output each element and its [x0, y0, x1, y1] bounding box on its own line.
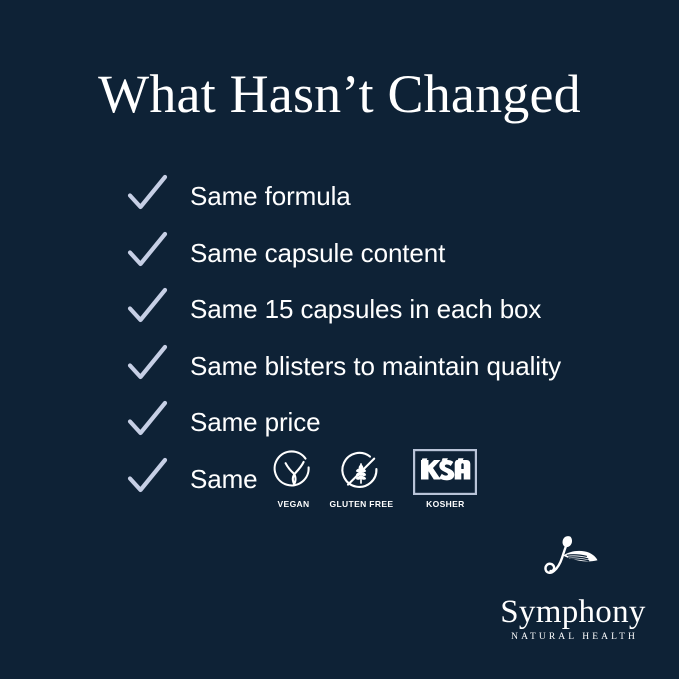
check-icon [126, 345, 168, 387]
promo-poster: What Hasn’t Changed Same formula Same ca… [0, 0, 679, 679]
list-item-label: Same blisters to maintain quality [190, 351, 561, 381]
badge-caption: KOSHER [426, 499, 464, 509]
vegan-icon [272, 449, 316, 495]
gluten-free-icon [339, 449, 383, 495]
check-icon [126, 232, 168, 274]
check-icon [126, 175, 168, 217]
list-item: Same blisters to maintain quality [126, 338, 646, 395]
list-item: Same price [126, 394, 646, 451]
brand-name: Symphony [500, 594, 645, 630]
kosher-ksa-icon [413, 449, 477, 495]
list-item-label: Same [190, 464, 258, 494]
badge-gluten-free: GLUTEN FREE [330, 449, 394, 509]
badge-vegan: VEGAN [272, 449, 316, 509]
page-title: What Hasn’t Changed [0, 62, 679, 126]
list-item-label: Same 15 capsules in each box [190, 294, 541, 324]
list-item: Same 15 capsules in each box [126, 281, 646, 338]
badge-caption: GLUTEN FREE [330, 499, 394, 509]
list-item-label: Same capsule content [190, 238, 445, 268]
leaf-sprout-logo [543, 530, 603, 592]
brand-logo: Symphony NATURAL HEALTH [493, 530, 653, 643]
badge-kosher: KOSHER [413, 449, 477, 509]
certification-badges: VEGAN [272, 449, 478, 509]
list-item-label: Same price [190, 407, 321, 437]
check-icon [126, 458, 168, 500]
benefits-checklist: Same formula Same capsule content Same 1… [126, 168, 646, 507]
brand-tagline: NATURAL HEALTH [508, 631, 638, 643]
check-icon [126, 288, 168, 330]
list-item-certifications: Same VEGAN [126, 451, 646, 508]
list-item: Same formula [126, 168, 646, 225]
list-item-label: Same formula [190, 181, 351, 211]
check-icon [126, 401, 168, 443]
badge-caption: VEGAN [278, 499, 310, 509]
list-item: Same capsule content [126, 225, 646, 282]
